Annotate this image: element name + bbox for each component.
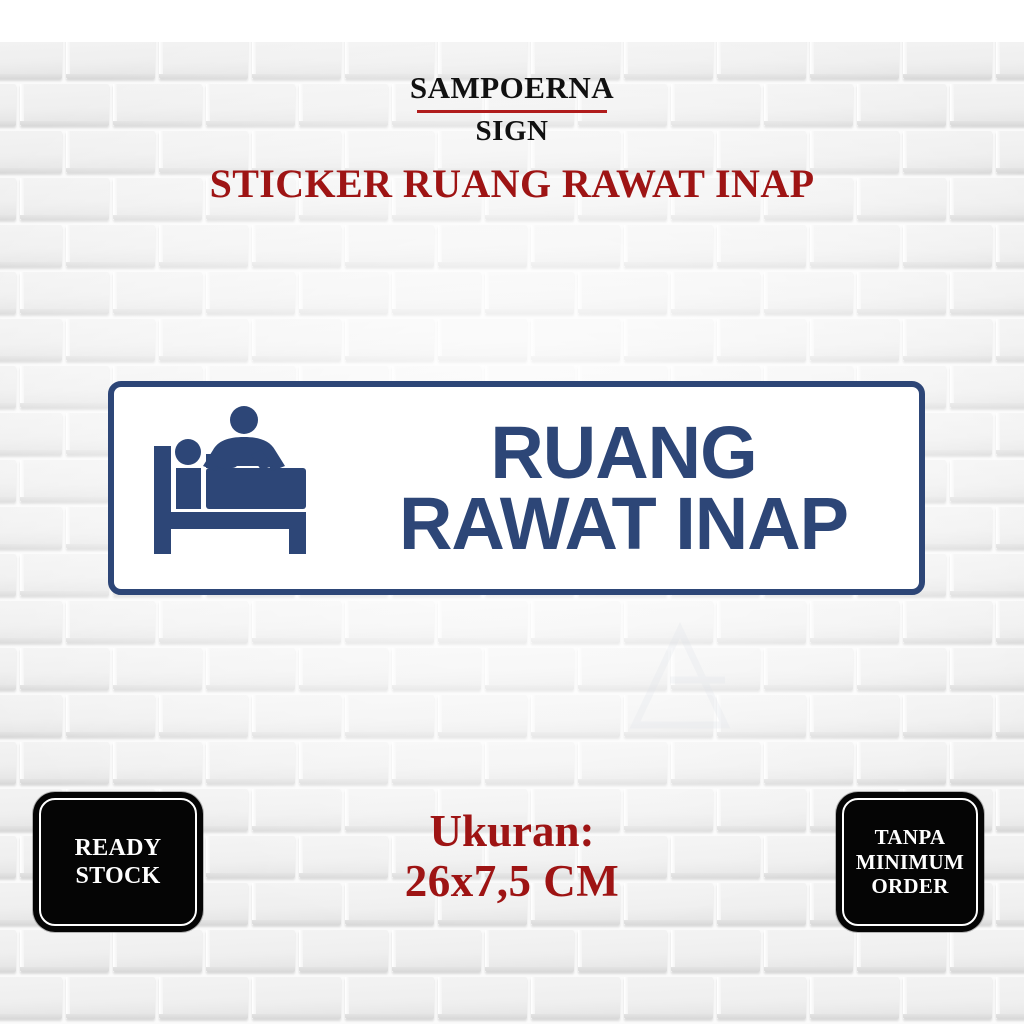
ready-stock-line1: READY [75,834,162,862]
no-minimum-order-badge: TANPA MINIMUM ORDER [836,792,984,932]
sign-text-line1: RUANG [338,417,909,488]
size-label: Ukuran: [300,806,724,856]
size-value: 26x7,5 CM [300,856,724,906]
sign-text-line2: RAWAT INAP [338,488,909,559]
no-min-line1: TANPA [856,825,964,850]
ready-stock-badge: READY STOCK [33,792,203,932]
background-top-fade [0,0,1024,42]
product-title: STICKER RUANG RAWAT INAP [0,160,1024,207]
no-min-line2: MINIMUM [856,850,964,875]
size-info: Ukuran: 26x7,5 CM [300,806,724,907]
ready-stock-line2: STOCK [75,862,162,890]
brand-subtitle: SIGN [0,117,1024,146]
ready-stock-badge-text: READY STOCK [75,834,162,891]
sign-panel: RUANG RAWAT INAP [108,381,925,595]
brand-rule [417,110,607,113]
patient-in-bed-with-caregiver-icon [148,404,338,572]
no-min-line3: ORDER [856,874,964,899]
brand-header: SAMPOERNA SIGN [0,72,1024,146]
no-minimum-order-badge-text: TANPA MINIMUM ORDER [856,825,964,899]
brand-name: SAMPOERNA [0,72,1024,103]
product-image: SAMPOERNA SIGN STICKER RUANG RAWAT INAP [0,0,1024,1024]
sign-text: RUANG RAWAT INAP [338,417,919,559]
